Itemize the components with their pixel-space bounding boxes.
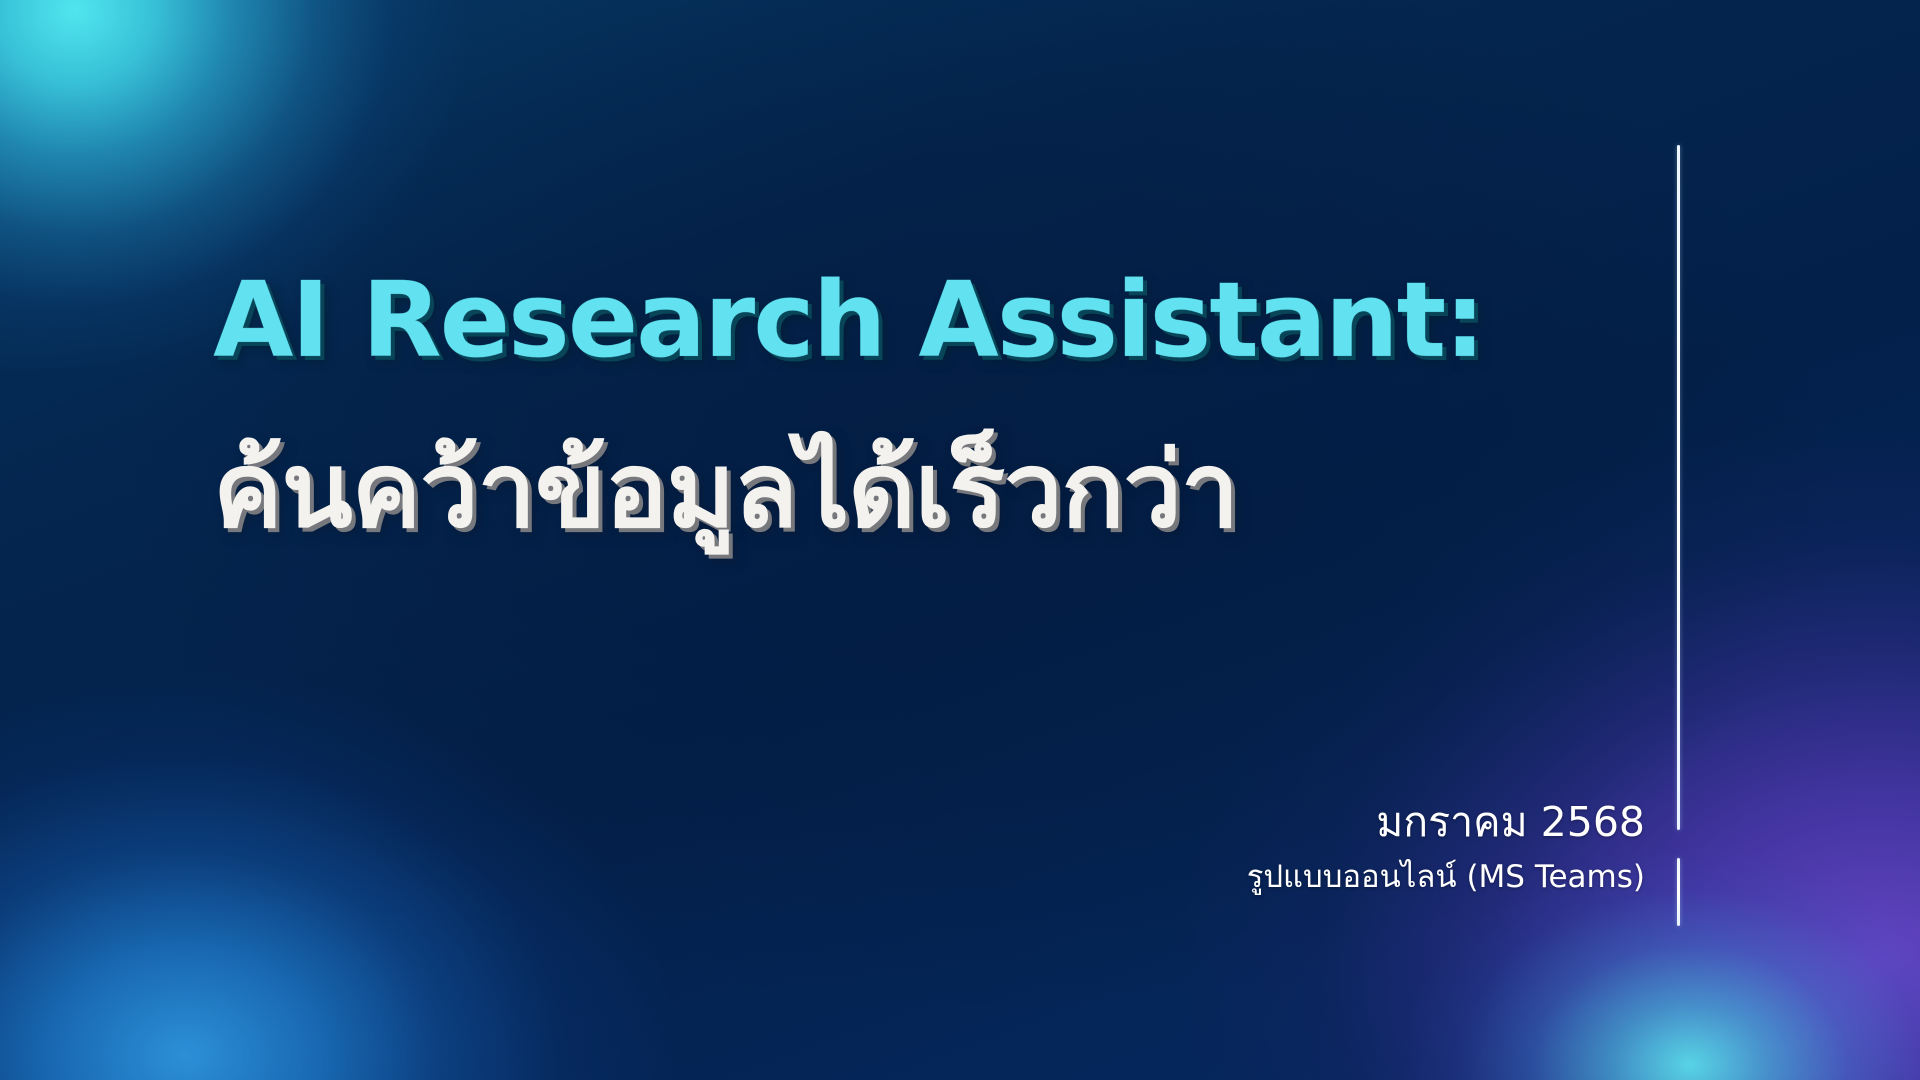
event-date: มกราคม 2568 bbox=[1025, 800, 1645, 846]
vertical-rule-bottom-segment bbox=[1677, 858, 1680, 926]
slide-title-primary: AI Research Assistant: bbox=[213, 268, 1513, 372]
event-format: รูปแบบออนไลน์ (MS Teams) bbox=[1025, 860, 1645, 896]
vertical-rule-top-segment bbox=[1677, 145, 1680, 830]
headline-block: AI Research Assistant: ค้นคว้าข้อมูลได้เ… bbox=[213, 268, 1513, 542]
title-slide: AI Research Assistant: ค้นคว้าข้อมูลได้เ… bbox=[0, 0, 1920, 1080]
slide-title-secondary: ค้นคว้าข้อมูลได้เร็วกว่า bbox=[213, 438, 1513, 542]
meta-block: มกราคม 2568 รูปแบบออนไลน์ (MS Teams) bbox=[1025, 800, 1645, 896]
